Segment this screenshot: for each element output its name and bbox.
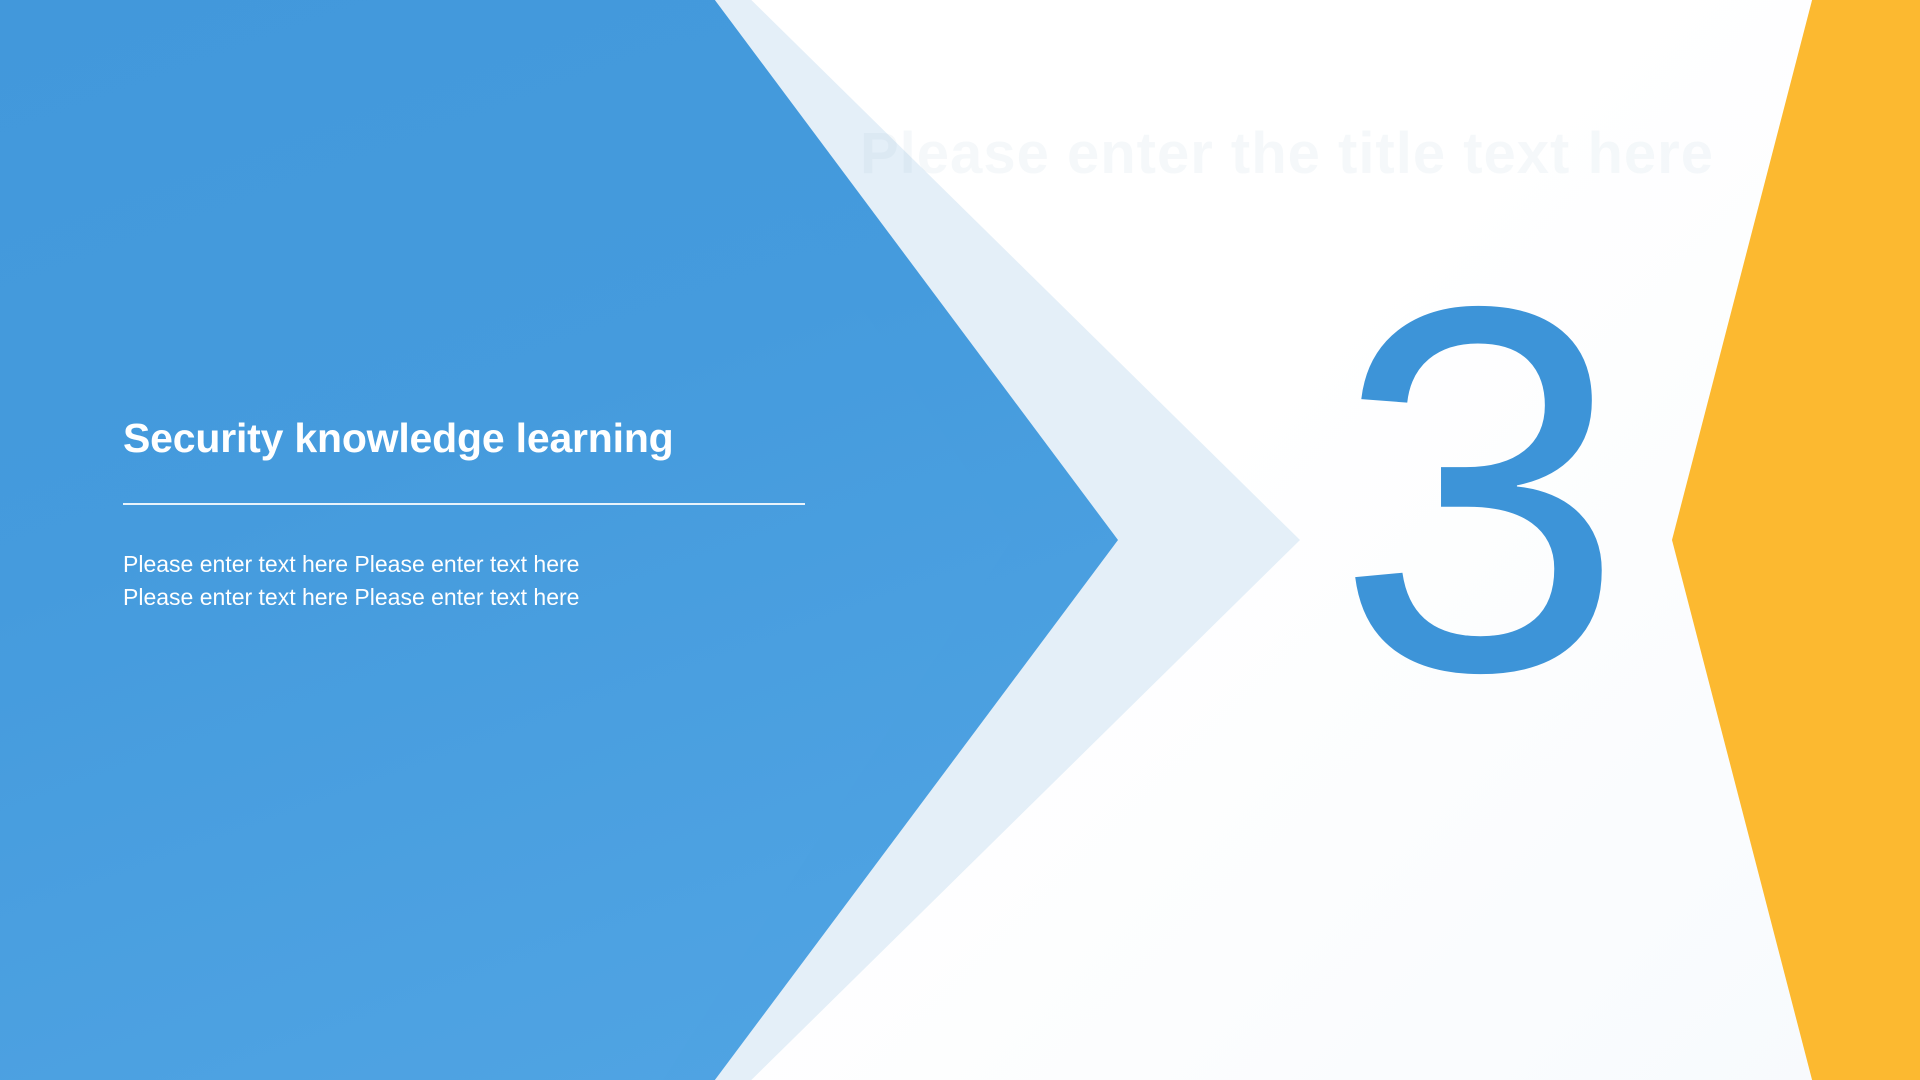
section-number: 3 (1330, 230, 1630, 750)
slide-body-text: Please enter text here Please enter text… (123, 548, 593, 614)
heading-divider (123, 503, 805, 505)
presentation-slide: Please enter the title text here 3 Secur… (0, 0, 1920, 1080)
slide-text-block: Security knowledge learning Please enter… (123, 412, 823, 614)
slide-heading: Security knowledge learning (123, 412, 823, 464)
